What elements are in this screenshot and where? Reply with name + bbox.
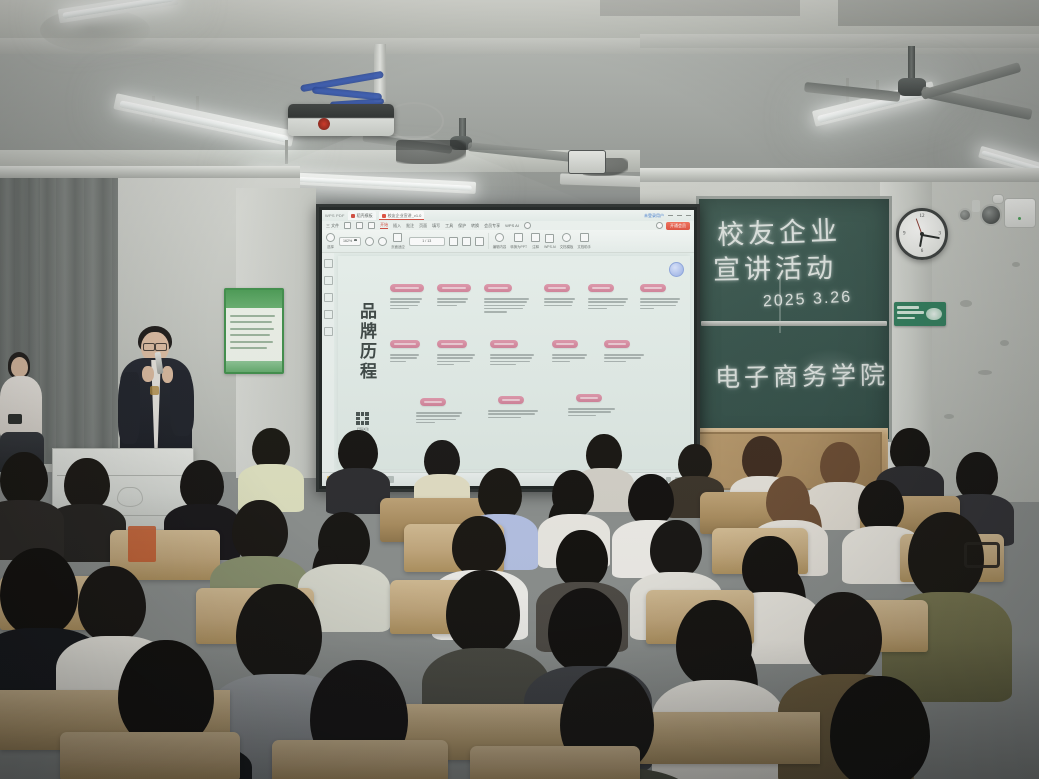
timeline-pill — [437, 284, 471, 292]
head — [478, 468, 522, 520]
timeline-pill — [390, 284, 424, 292]
timeline-pill — [437, 340, 467, 348]
poster-footer — [226, 361, 282, 372]
projected-desktop: WPS PDF 稻壳模板 校友企业宣讲_v1.0 未登录用户 — [322, 210, 694, 486]
green-chalkboard: 校友企业 宣讲活动 2025 3.26 电子商务学院 — [696, 196, 892, 442]
sensor-icon — [958, 208, 972, 222]
head — [0, 548, 78, 636]
head — [628, 474, 674, 526]
menu-item-page[interactable]: 页面 — [419, 223, 427, 229]
ribbon-label: 转换为PPT — [510, 244, 527, 249]
wall-clock: 12 3 6 9 — [896, 208, 948, 260]
titlebar-controls: 未登录用户 — [644, 213, 691, 219]
menu-item-insert[interactable]: 插入 — [393, 223, 401, 229]
account-label[interactable]: 未登录用户 — [644, 213, 664, 219]
chalk-date: 2025 3.26 — [763, 289, 853, 312]
slide-vertical-title: 品牌历程 — [354, 302, 379, 382]
assistant-torso — [0, 376, 42, 438]
poster-text-line — [230, 334, 269, 336]
convert-icon[interactable] — [531, 233, 540, 242]
timeline-pill — [576, 394, 602, 402]
ceiling-beam-right — [640, 34, 1039, 48]
zoom-out-icon[interactable] — [365, 237, 374, 246]
app-titlebar: WPS PDF 稻壳模板 校友企业宣讲_v1.0 未登录用户 — [322, 210, 694, 221]
timeline-text — [568, 408, 616, 418]
poster-text-line — [230, 347, 267, 349]
page-indicator-value: 1 / 13 — [422, 239, 431, 243]
app-ribbon: 选择 162% 页面适应 1 / 13 — [322, 230, 694, 253]
chalk-line-4: 电子商务学院 — [715, 355, 890, 394]
head — [232, 500, 288, 562]
tab-icon — [351, 214, 355, 218]
clock-numeral: 9 — [903, 232, 906, 237]
wall-mark-2 — [1000, 340, 1009, 346]
edit-icon[interactable] — [514, 233, 523, 242]
ribbon-label: 编辑内容 — [493, 244, 507, 249]
head — [858, 480, 904, 532]
safety-evacuation-sign — [894, 302, 946, 326]
menubar-right: 开通会员 — [656, 222, 690, 230]
ceiling-shadow — [600, 0, 800, 16]
ribbon-label: WPS AI — [544, 245, 556, 249]
sign-text-line — [897, 317, 915, 319]
clock-hour-hand — [919, 235, 923, 247]
timeline-text — [390, 298, 422, 311]
ribbon-group-fit: 页面适应 — [391, 233, 405, 249]
orange-bag — [128, 526, 156, 562]
timeline-pill — [588, 284, 614, 292]
wall-mark-3 — [978, 370, 992, 375]
ai-icon[interactable] — [562, 233, 571, 242]
head — [556, 530, 608, 588]
cable-bundle — [396, 140, 466, 164]
timeline-pill — [604, 340, 630, 348]
head — [548, 588, 622, 672]
signature-icon[interactable] — [324, 327, 333, 336]
app-tab-template[interactable]: 稻壳模板 — [348, 211, 376, 220]
menu-item-start[interactable]: 开始 — [380, 222, 388, 229]
ribbon-group-find: 编辑内容 — [493, 233, 507, 249]
sign-pictogram-icon — [926, 308, 942, 320]
timeline-pill — [484, 284, 512, 292]
previous-page-icon[interactable] — [449, 237, 458, 246]
menu-item-annotate[interactable]: 批注 — [406, 223, 414, 229]
poster-text-line — [230, 341, 273, 343]
upgrade-button[interactable]: 开通会员 — [666, 222, 690, 230]
wall-mark-1 — [960, 300, 972, 307]
ceiling-fan-stem-1 — [908, 46, 915, 82]
app-brand-label: WPS PDF — [325, 213, 345, 218]
cursor-icon[interactable] — [326, 233, 335, 242]
close-icon[interactable] — [686, 215, 691, 217]
ribbon-label: 文档助手 — [577, 244, 591, 249]
presenter-arm-left — [118, 372, 140, 444]
menu-item-protect[interactable]: 保护 — [458, 223, 466, 229]
ai-assistant-bubble[interactable] — [669, 262, 684, 277]
redo-icon[interactable] — [368, 222, 375, 229]
glasses-icon — [964, 542, 1000, 568]
ribbon-label: 文档模板 — [560, 244, 574, 249]
clock-numeral: 12 — [920, 214, 925, 219]
light-stem-3 — [285, 140, 288, 164]
timeline-pill — [640, 284, 666, 292]
attachment-icon[interactable] — [324, 310, 333, 319]
presenter — [112, 326, 202, 466]
poster-text-line — [230, 328, 274, 330]
wall-ledge-left — [0, 166, 300, 178]
thumbnail-icon[interactable] — [324, 259, 333, 268]
menu-item-ai[interactable]: WPS AI — [505, 223, 519, 228]
maximize-icon[interactable] — [677, 215, 682, 217]
clock-numeral: 3 — [939, 232, 942, 237]
poster-text-line — [230, 315, 275, 317]
timeline-text — [588, 298, 628, 311]
timeline-text — [390, 354, 420, 364]
podium-emblem — [117, 487, 143, 507]
projector-body — [288, 104, 394, 136]
presenter-hand-right — [162, 366, 173, 383]
qr-code-icon — [356, 412, 369, 425]
ribbon-label: 选择 — [327, 244, 334, 249]
ribbon-group-comment: WPS AI — [544, 234, 556, 249]
timeline-text — [484, 298, 529, 314]
ribbon-group-ai: 文档模板 — [560, 233, 574, 249]
file-menu[interactable]: 三 文件 — [326, 223, 339, 229]
head — [64, 458, 110, 510]
seat — [60, 732, 240, 779]
chevron-down-icon[interactable] — [354, 239, 357, 244]
assistant-icon[interactable] — [580, 233, 589, 242]
zoom-control[interactable]: 162% — [339, 237, 361, 246]
head — [650, 520, 702, 578]
menu-item-fill[interactable]: 填写 — [432, 223, 440, 229]
bookmark-icon[interactable] — [324, 293, 333, 302]
ceiling-shadow-right — [838, 0, 1039, 26]
tab-label: 稻壳模板 — [357, 213, 373, 219]
wall-mark-5 — [1012, 262, 1020, 267]
wall-notice-poster — [224, 288, 284, 374]
presenter-emblem — [150, 386, 159, 395]
presenter-hand-left — [142, 366, 154, 382]
tab-icon — [382, 214, 386, 218]
head — [78, 566, 146, 642]
timeline-text — [604, 354, 644, 364]
app-tab-document[interactable]: 校友企业宣讲_v1.0 — [379, 211, 425, 220]
head — [452, 516, 506, 576]
ribbon-group-convert: 注释 — [531, 233, 540, 249]
minimize-icon[interactable] — [668, 215, 673, 217]
timeline-pill — [420, 398, 446, 406]
timeline-pill — [552, 340, 578, 348]
head — [956, 452, 998, 500]
help-icon[interactable] — [656, 222, 663, 229]
ribbon-group-assistant: 文档助手 — [577, 233, 591, 249]
glasses-icon — [155, 343, 167, 351]
clock-numeral: 6 — [921, 249, 924, 254]
device-led-icon — [1018, 217, 1021, 220]
timeline-text — [490, 354, 534, 367]
timeline-pill — [544, 284, 570, 292]
sign-text-line — [897, 311, 924, 313]
save-icon[interactable] — [344, 222, 351, 229]
next-page-icon[interactable] — [462, 237, 471, 246]
ribbon-separator — [488, 233, 489, 249]
clock-minute-hand — [922, 234, 940, 239]
timeline-text — [437, 354, 475, 367]
presenter-arm-right — [170, 370, 194, 436]
menu-item-member[interactable]: 会员专享 — [484, 223, 500, 229]
fit-page-icon[interactable] — [393, 233, 402, 242]
page-indicator[interactable]: 1 / 13 — [409, 237, 445, 246]
head — [180, 460, 224, 510]
ribbon-label: 注释 — [532, 244, 539, 249]
slide-page: 品牌历程 扫码关注 — [338, 256, 690, 469]
head — [446, 570, 520, 654]
wall-ledge — [640, 168, 1039, 182]
chalk-line-2: 宣讲活动 — [713, 246, 838, 287]
timeline-pill — [498, 396, 524, 404]
seat — [470, 746, 640, 779]
search-icon[interactable] — [524, 222, 531, 229]
seat — [272, 740, 448, 779]
clock-center-pin — [920, 232, 924, 236]
timeline-text — [552, 354, 588, 364]
camera-mount — [972, 200, 980, 212]
undo-icon[interactable] — [356, 222, 363, 229]
timeline-pill — [390, 340, 420, 348]
wall-mark-4 — [944, 414, 954, 419]
poster-header — [226, 290, 282, 308]
timeline-text — [640, 298, 680, 311]
sign-text-line — [897, 306, 919, 309]
menu-item-convert[interactable]: 转换 — [471, 223, 479, 229]
wall-bracket — [992, 194, 1004, 204]
comment-icon[interactable] — [545, 234, 554, 243]
projector-lens-icon — [318, 118, 330, 130]
ribbon-label: 页面适应 — [391, 244, 405, 249]
head — [236, 584, 322, 682]
document-canvas[interactable]: 品牌历程 扫码关注 — [334, 253, 694, 472]
find-icon[interactable] — [495, 233, 504, 242]
wall-mounted-unit — [1004, 198, 1036, 228]
timeline-text — [416, 412, 462, 425]
fit-width-icon[interactable] — [475, 237, 484, 246]
chalk-rail — [701, 321, 887, 326]
timeline-text — [544, 298, 576, 308]
menu-item-tools[interactable]: 工具 — [445, 223, 453, 229]
lecture-hall-photo: 12 3 6 9 校友企业 宣讲活动 2025 3.26 电子商务学院 — [0, 0, 1039, 779]
head — [0, 452, 48, 506]
ribbon-group-select: 选择 — [326, 233, 335, 249]
poster-text-line — [230, 321, 271, 323]
outline-icon[interactable] — [324, 276, 333, 285]
assistant-head — [11, 357, 28, 377]
zoom-level-value: 162% — [343, 239, 352, 243]
smartphone — [8, 414, 22, 424]
tab-label: 校友企业宣讲_v1.0 — [388, 213, 422, 219]
glasses-icon — [143, 343, 155, 351]
security-camera-icon — [980, 204, 1002, 226]
head — [804, 592, 882, 680]
timeline-text — [488, 410, 538, 420]
timeline-pill — [490, 340, 518, 348]
ceiling-device — [568, 150, 606, 174]
timeline-text — [437, 298, 469, 308]
app-menubar: 三 文件 开始 插入 批注 页面 填写 工具 保护 转换 会员专享 WPS AI… — [322, 221, 694, 230]
zoom-in-icon[interactable] — [378, 237, 387, 246]
ribbon-group-edit: 转换为PPT — [510, 233, 527, 249]
